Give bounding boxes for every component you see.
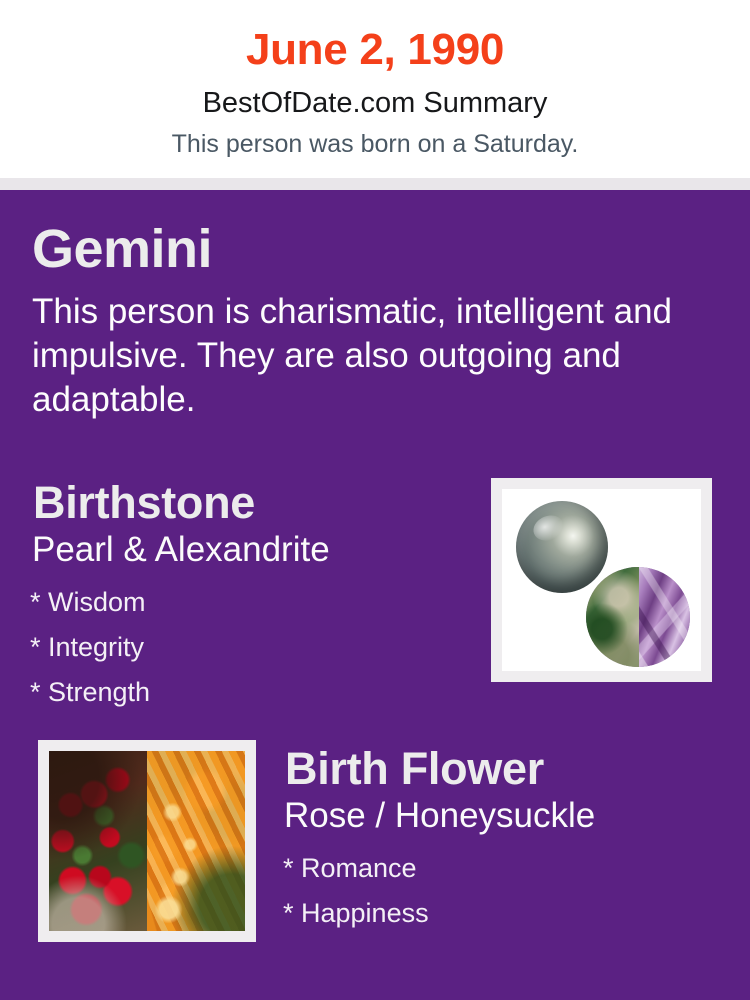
alexandrite-green-half [586,567,639,667]
alexandrite-purple-half [639,567,690,667]
list-item: * Romance [283,846,429,891]
birthstone-section-title: Birthstone [33,476,255,530]
list-item: * Wisdom [30,580,150,625]
honeysuckle-photo-half [147,751,245,931]
alexandrite-gem-icon [586,567,690,667]
birth-flower-photo [49,751,245,931]
card-header: June 2, 1990 BestOfDate.com Summary This… [0,0,750,178]
list-item: * Happiness [283,891,429,936]
birthstone-photo [502,489,701,671]
page-title-date: June 2, 1990 [0,22,750,78]
birthstone-photo-frame [491,478,712,682]
weekday-statement: This person was born on a Saturday. [0,128,750,160]
birthstone-trait-list: * Wisdom * Integrity * Strength [30,580,150,715]
birth-flower-section-title: Birth Flower [285,742,544,796]
birth-flower-photo-frame [38,740,256,942]
zodiac-sign-title: Gemini [32,218,212,280]
birthstone-name: Pearl & Alexandrite [32,528,330,572]
summary-card: June 2, 1990 BestOfDate.com Summary This… [0,0,750,1000]
birth-flower-name: Rose / Honeysuckle [284,794,595,838]
zodiac-description: This person is charismatic, intelligent … [32,290,702,422]
rose-photo-half [49,751,147,931]
header-divider [0,178,750,190]
birth-flower-trait-list: * Romance * Happiness [283,846,429,936]
content-panel: Gemini This person is charismatic, intel… [0,190,750,1000]
site-summary-label: BestOfDate.com Summary [0,85,750,121]
list-item: * Integrity [30,625,150,670]
list-item: * Strength [30,670,150,715]
